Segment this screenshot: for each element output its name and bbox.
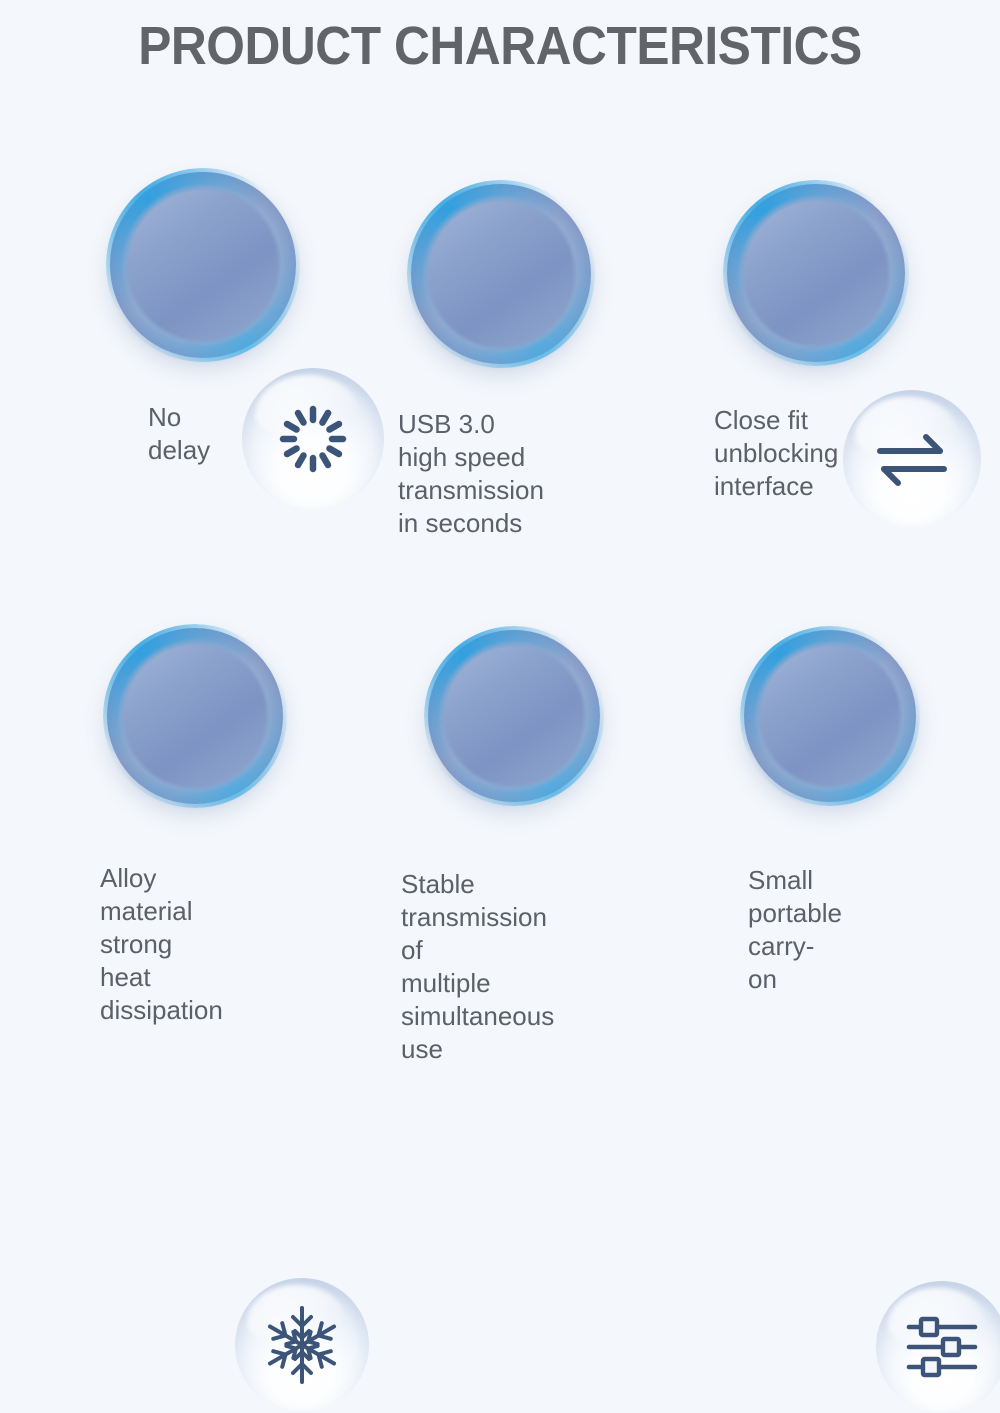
feature-badge-circle: [411, 184, 591, 364]
feature-badge-circle: [727, 184, 905, 362]
sliders-settings-icon: [876, 1281, 1000, 1413]
snowflake-icon: [235, 1278, 369, 1412]
badge-inner-dish: [843, 390, 981, 528]
badge-inner-dish: [876, 1281, 1000, 1413]
loading-spinner-icon: [242, 368, 384, 510]
feature-caption: USB 3.0 high speed transmission in secon…: [398, 408, 544, 540]
badge-inner-dish: [242, 368, 384, 510]
feature-caption: Stable transmission of multiple simultan…: [401, 868, 554, 1066]
feature-caption: Close fit unblocking interface: [714, 404, 838, 503]
feature-badge-circle: [744, 630, 916, 802]
feature-badge-circle: [110, 172, 296, 358]
feature-badge-circle: [428, 630, 600, 802]
bidirectional-transfer-arrows-icon: [843, 390, 981, 528]
badge-inner-dish: [235, 1278, 369, 1412]
feature-caption: Small portable carry-on: [748, 864, 842, 996]
feature-caption: Alloy material strong heat dissipation: [100, 862, 223, 1027]
feature-badge-circle: [107, 628, 283, 804]
features-grid: No delay USB 3.0 high speed transmis: [0, 0, 1000, 1000]
feature-caption: No delay: [148, 401, 210, 467]
